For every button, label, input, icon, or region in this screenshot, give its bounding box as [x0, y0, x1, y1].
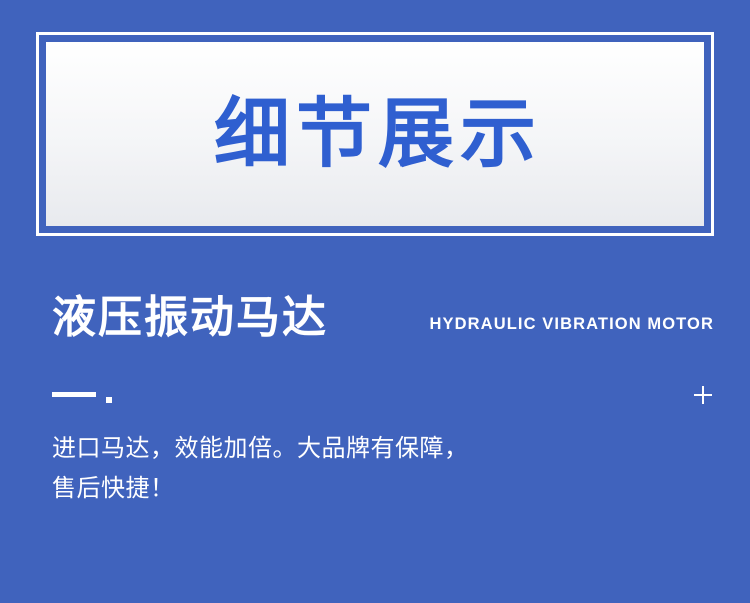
section-title-en: HYDRAULIC VIBRATION MOTOR — [430, 315, 714, 340]
section-divider — [52, 384, 714, 406]
section-headline-row: 液压振动马达 HYDRAULIC VIBRATION MOTOR — [52, 296, 714, 340]
dot-decoration — [106, 397, 112, 403]
banner-title: 细节展示 — [214, 96, 542, 172]
body-copy-line-1: 进口马达，效能加倍。大品牌有保障， — [52, 428, 672, 468]
body-copy-line-2: 售后快捷！ — [52, 468, 672, 508]
section-body-copy: 进口马达，效能加倍。大品牌有保障， 售后快捷！ — [52, 428, 672, 508]
banner-inner-panel: 细节展示 — [46, 42, 704, 226]
plus-icon-vertical-bar — [702, 386, 704, 404]
dash-decoration — [52, 392, 96, 397]
section-title-cn: 液压振动马达 — [52, 296, 328, 340]
plus-icon — [692, 384, 714, 406]
banner-frame: 细节展示 — [36, 32, 714, 236]
